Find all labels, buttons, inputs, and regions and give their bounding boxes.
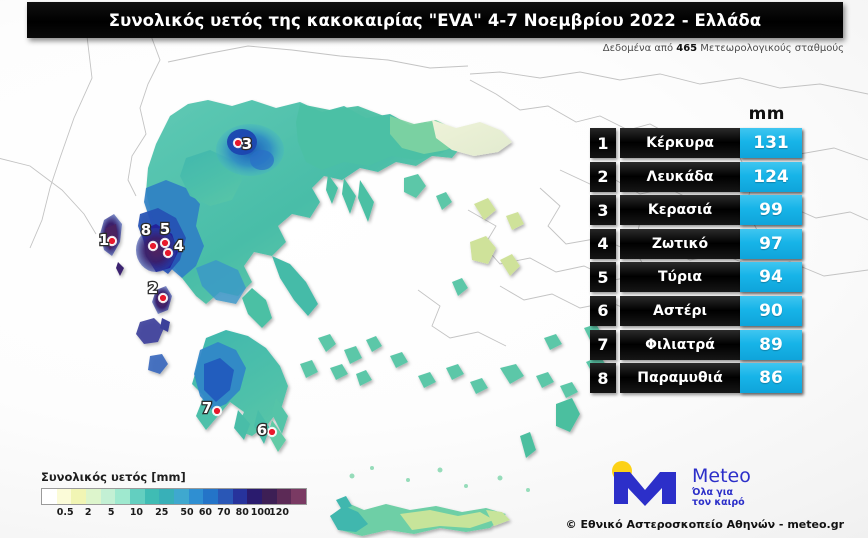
marker-dot-icon xyxy=(161,239,168,246)
marker-label: 3 xyxy=(242,135,252,153)
marker-label: 7 xyxy=(202,399,212,417)
logo-brand: Meteo xyxy=(692,465,751,487)
marker-label: 1 xyxy=(99,231,109,249)
infographic-root: 12345768 Συνολικός υετός της κακοκαιρίας… xyxy=(0,0,868,538)
station-marker-5[interactable]: 5 xyxy=(160,220,170,248)
legend-swatch xyxy=(247,489,262,504)
table-row: 5Τύρια94 xyxy=(590,262,802,292)
rainfall-value: 131 xyxy=(740,128,802,158)
islets xyxy=(298,466,530,492)
table-row: 1Κέρκυρα131 xyxy=(590,128,802,158)
legend-tick: 50 xyxy=(180,507,193,518)
legend-swatch xyxy=(189,489,204,504)
legend-tick: 5 xyxy=(108,507,115,518)
marker-dot-icon xyxy=(164,249,171,256)
rank-number: 6 xyxy=(590,296,616,326)
table-row: 6Αστέρι90 xyxy=(590,296,802,326)
meteo-logo[interactable]: Meteo Όλα για τον καιρό xyxy=(600,458,800,510)
legend-colorbar xyxy=(41,488,307,505)
copyright-notice: © Εθνικό Αστεροσκοπείο Αθηνών - meteo.gr xyxy=(566,518,844,531)
crete xyxy=(330,496,510,536)
legend-swatch xyxy=(174,489,189,504)
rainfall-value: 99 xyxy=(740,195,802,225)
rank-number: 1 xyxy=(590,128,616,158)
legend-tick: 25 xyxy=(155,507,168,518)
data-source-subtitle: Δεδομένα από 465 Μετεωρολογικούς σταθμού… xyxy=(603,43,844,54)
legend-swatch xyxy=(42,489,57,504)
legend-swatch xyxy=(145,489,160,504)
legend-swatch xyxy=(101,489,116,504)
marker-dot-icon xyxy=(234,139,241,146)
rainfall-value: 89 xyxy=(740,330,802,360)
marker-label: 4 xyxy=(174,237,184,255)
legend-swatch xyxy=(277,489,292,504)
aegean-islands xyxy=(300,174,608,458)
rainfall-value: 124 xyxy=(740,162,802,192)
legend-tick: 2 xyxy=(85,507,92,518)
table-row: 2Λευκάδα124 xyxy=(590,162,802,192)
page-title: Συνολικός υετός της κακοκαιρίας "EVA" 4-… xyxy=(109,11,762,30)
unit-header: mm xyxy=(590,104,802,124)
legend-swatch xyxy=(159,489,174,504)
legend-swatch xyxy=(86,489,101,504)
legend-swatch xyxy=(291,489,306,504)
rainfall-value: 97 xyxy=(740,229,802,259)
rainfall-value: 90 xyxy=(740,296,802,326)
rank-number: 2 xyxy=(590,162,616,192)
title-bar: Συνολικός υετός της κακοκαιρίας "EVA" 4-… xyxy=(27,2,843,38)
legend-tick: 0.5 xyxy=(57,507,74,518)
legend-swatch xyxy=(57,489,72,504)
table-row: 8Παραμυθιά86 xyxy=(590,363,802,393)
legend-swatch xyxy=(218,489,233,504)
marker-dot-icon xyxy=(149,242,156,249)
legend-tick: 10 xyxy=(130,507,143,518)
legend-tick: 120 xyxy=(269,507,289,518)
logo-tagline-2: τον καιρό xyxy=(692,497,745,508)
legend-tick: 100 xyxy=(251,507,271,518)
station-count: 465 xyxy=(676,43,697,54)
rank-number: 7 xyxy=(590,330,616,360)
marker-label: 8 xyxy=(141,221,151,239)
top-stations-table: 1Κέρκυρα1312Λευκάδα1243Κερασιά994Ζωτικό9… xyxy=(590,128,802,397)
marker-dot-icon xyxy=(108,237,115,244)
legend-tick: 80 xyxy=(236,507,249,518)
legend-swatch xyxy=(203,489,218,504)
marker-label: 5 xyxy=(160,220,170,238)
subtitle-suffix: Μετεωρολογικούς σταθμούς xyxy=(697,43,844,54)
marker-dot-icon xyxy=(268,428,275,435)
legend-tick: 70 xyxy=(217,507,230,518)
rank-number: 3 xyxy=(590,195,616,225)
legend-swatch xyxy=(233,489,248,504)
rainfall-value: 94 xyxy=(740,262,802,292)
marker-label: 2 xyxy=(148,279,158,297)
table-row: 3Κερασιά99 xyxy=(590,195,802,225)
rank-number: 5 xyxy=(590,262,616,292)
legend: Συνολικός υετός [mm] 0.52510255060708010… xyxy=(41,470,307,521)
legend-tick-labels: 0.525102550607080100120 xyxy=(41,507,307,521)
legend-caption: Συνολικός υετός [mm] xyxy=(41,470,307,484)
meteo-m-icon xyxy=(614,472,676,506)
marker-dot-icon xyxy=(213,407,220,414)
legend-swatch xyxy=(115,489,130,504)
legend-swatch xyxy=(130,489,145,504)
marker-label: 6 xyxy=(257,421,267,439)
legend-swatch xyxy=(71,489,86,504)
subtitle-prefix: Δεδομένα από xyxy=(603,43,677,54)
greece-mainland xyxy=(136,100,512,328)
table-row: 4Ζωτικό97 xyxy=(590,229,802,259)
legend-tick: 60 xyxy=(199,507,212,518)
legend-swatch xyxy=(262,489,277,504)
rank-number: 8 xyxy=(590,363,616,393)
rank-number: 4 xyxy=(590,229,616,259)
table-row: 7Φιλιατρά89 xyxy=(590,330,802,360)
rainfall-value: 86 xyxy=(740,363,802,393)
marker-dot-icon xyxy=(159,294,166,301)
